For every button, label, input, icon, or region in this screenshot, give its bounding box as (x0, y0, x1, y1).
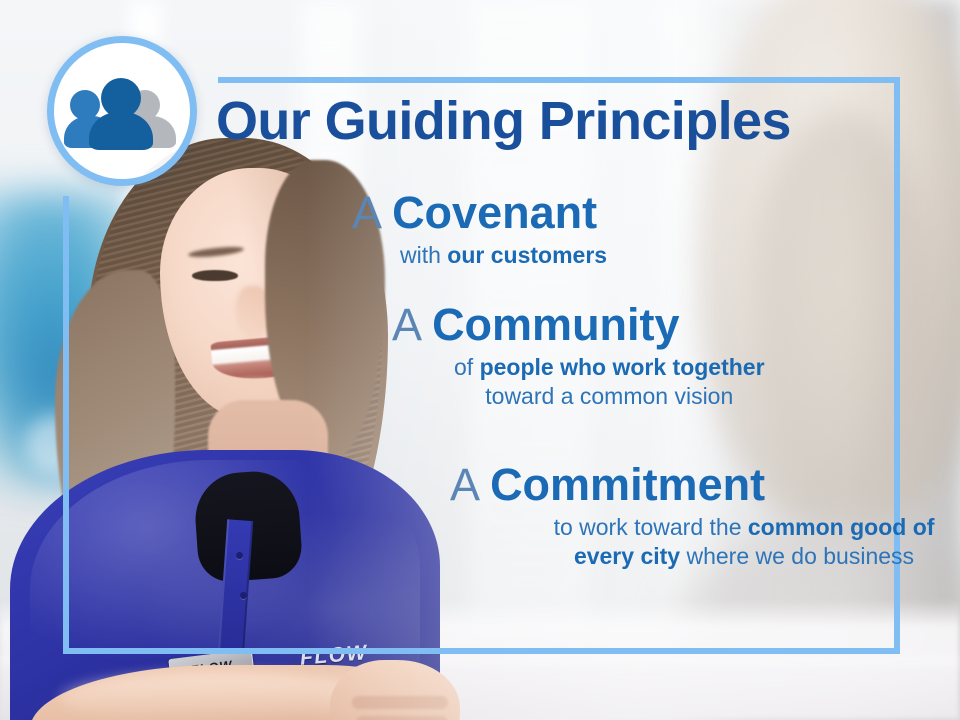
principle-heading: A Commitment (450, 462, 960, 509)
principle-subtext-part: toward a common vision (485, 383, 733, 409)
frame-border-bottom (63, 648, 900, 654)
principle-article: A (352, 187, 380, 238)
principle-subtext: with our customers (352, 241, 607, 270)
principle-subtext-part: with (400, 242, 447, 268)
principle-subtext: of people who work together toward a com… (392, 353, 765, 411)
principle-subtext-part: where we do business (680, 543, 914, 569)
frame-border-left (63, 196, 69, 654)
principle-subtext-part: to work toward the (554, 514, 748, 540)
principle-keyword: Community (432, 299, 680, 350)
principle-article: A (450, 459, 478, 510)
principle-subtext: to work toward the common good of every … (450, 513, 960, 571)
people-badge (47, 36, 197, 186)
principle-heading: A Community (392, 302, 765, 349)
people-group-icon (70, 76, 174, 146)
page-title: Our Guiding Principles (216, 94, 876, 148)
principle-article: A (392, 299, 420, 350)
frame-border-top (218, 77, 900, 83)
guiding-principles-graphic: FLOW AUTOMOTIVE FLOW (0, 0, 960, 720)
principle-keyword: Covenant (392, 187, 597, 238)
principle-subtext-part-bold: people who work together (480, 354, 765, 380)
principle-subtext-part: of (454, 354, 480, 380)
principle-heading: A Covenant (352, 190, 607, 237)
principle-community: A Community of people who work together … (392, 302, 765, 411)
principle-keyword: Commitment (490, 459, 765, 510)
principle-commitment: A Commitment to work toward the common g… (450, 462, 960, 571)
principle-subtext-part-bold: our customers (447, 242, 607, 268)
principle-covenant: A Covenant with our customers (352, 190, 607, 270)
